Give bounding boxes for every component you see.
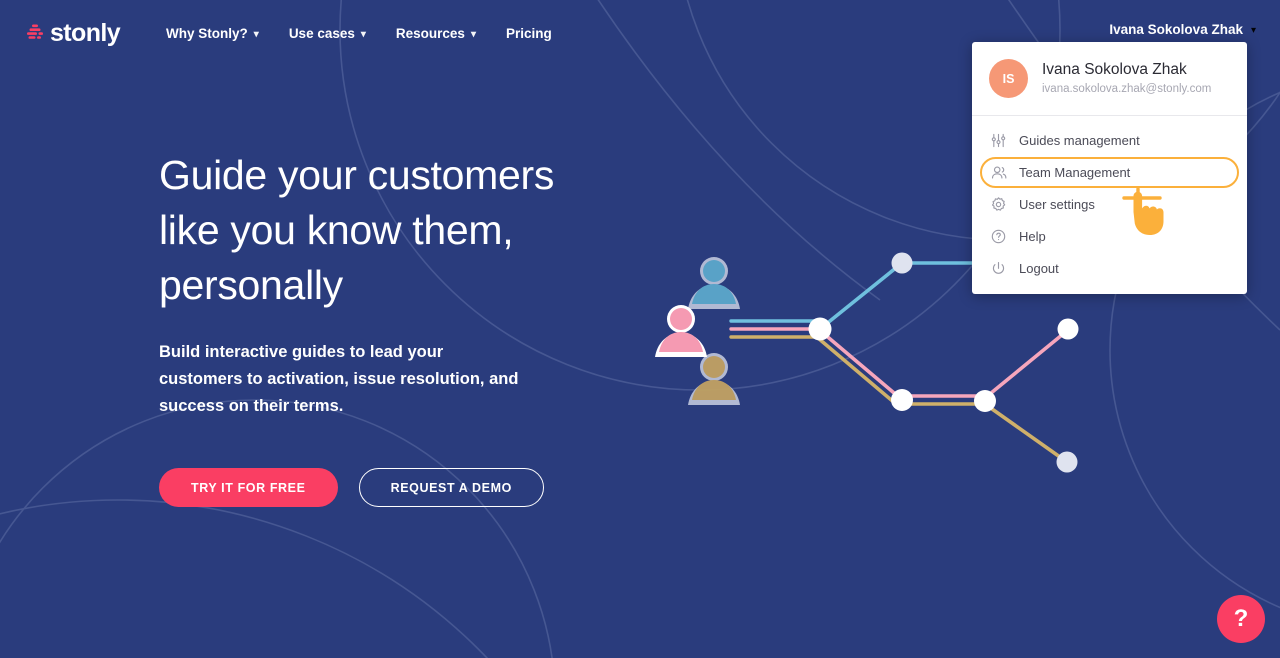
nav-links: Why Stonly? ▾ Use cases ▾ Resources ▾ Pr… (166, 26, 552, 41)
nav-item-label: Why Stonly? (166, 26, 248, 41)
menu-item-team-management[interactable]: Team Management (980, 157, 1239, 188)
menu-item-label: Help (1019, 229, 1046, 244)
stonly-logo-icon (27, 24, 43, 42)
nav-item-label: Pricing (506, 26, 552, 41)
nav-item-resources[interactable]: Resources ▾ (396, 26, 476, 41)
flow-node (1058, 319, 1079, 340)
flow-node (892, 253, 913, 274)
menu-profile-header: IS Ivana Sokolova Zhak ivana.sokolova.zh… (972, 42, 1247, 116)
menu-item-label: User settings (1019, 197, 1095, 212)
landing-page: stonly Why Stonly? ▾ Use cases ▾ Resourc… (0, 0, 1280, 658)
flow-paths-incoming (731, 321, 820, 337)
help-button[interactable]: ? (1217, 595, 1265, 643)
question-circle-icon (990, 228, 1007, 245)
nav-item-pricing[interactable]: Pricing (506, 26, 552, 41)
hero-subtitle: Build interactive guides to lead your cu… (159, 339, 529, 420)
users-icon (990, 164, 1007, 181)
menu-item-user-settings[interactable]: User settings (980, 189, 1239, 220)
flow-node-hub (809, 318, 832, 341)
user-menu-trigger[interactable]: Ivana Sokolova Zhak ▾ (1109, 22, 1256, 37)
menu-item-label: Guides management (1019, 133, 1140, 148)
flow-node (1057, 452, 1078, 473)
menu-item-list: Guides management Team Management (972, 116, 1247, 284)
try-it-for-free-button[interactable]: TRY IT FOR FREE (159, 468, 338, 507)
menu-item-label: Team Management (1019, 165, 1130, 180)
menu-item-help[interactable]: Help (980, 221, 1239, 252)
flow-node (974, 390, 996, 412)
hero-cta-group: TRY IT FOR FREE REQUEST A DEMO (159, 468, 719, 507)
user-dropdown-menu: IS Ivana Sokolova Zhak ivana.sokolova.zh… (972, 42, 1247, 294)
gear-icon (990, 196, 1007, 213)
page-title: Guide your customers like you know them,… (159, 148, 719, 313)
menu-profile-text: Ivana Sokolova Zhak ivana.sokolova.zhak@… (1042, 60, 1211, 98)
sliders-icon (990, 132, 1007, 149)
chevron-down-icon: ▾ (471, 29, 476, 40)
request-a-demo-button[interactable]: REQUEST A DEMO (359, 468, 544, 507)
brand-logo[interactable]: stonly (27, 19, 120, 48)
menu-item-label: Logout (1019, 261, 1059, 276)
profile-email: ivana.sokolova.zhak@stonly.com (1042, 81, 1211, 98)
menu-item-logout[interactable]: Logout (980, 253, 1239, 284)
brand-name: stonly (50, 19, 120, 48)
chevron-down-icon: ▾ (1251, 25, 1256, 36)
nav-item-label: Resources (396, 26, 465, 41)
nav-item-label: Use cases (289, 26, 355, 41)
chevron-down-icon: ▾ (254, 29, 259, 40)
hero-section: Guide your customers like you know them,… (159, 148, 719, 507)
menu-item-guides-management[interactable]: Guides management (980, 125, 1239, 156)
power-icon (990, 260, 1007, 277)
flow-node (891, 389, 913, 411)
avatar: IS (989, 59, 1028, 98)
profile-name: Ivana Sokolova Zhak (1042, 60, 1211, 80)
user-menu-trigger-label: Ivana Sokolova Zhak (1109, 22, 1243, 37)
nav-item-use-cases[interactable]: Use cases ▾ (289, 26, 366, 41)
nav-item-why-stonly[interactable]: Why Stonly? ▾ (166, 26, 259, 41)
chevron-down-icon: ▾ (361, 29, 366, 40)
